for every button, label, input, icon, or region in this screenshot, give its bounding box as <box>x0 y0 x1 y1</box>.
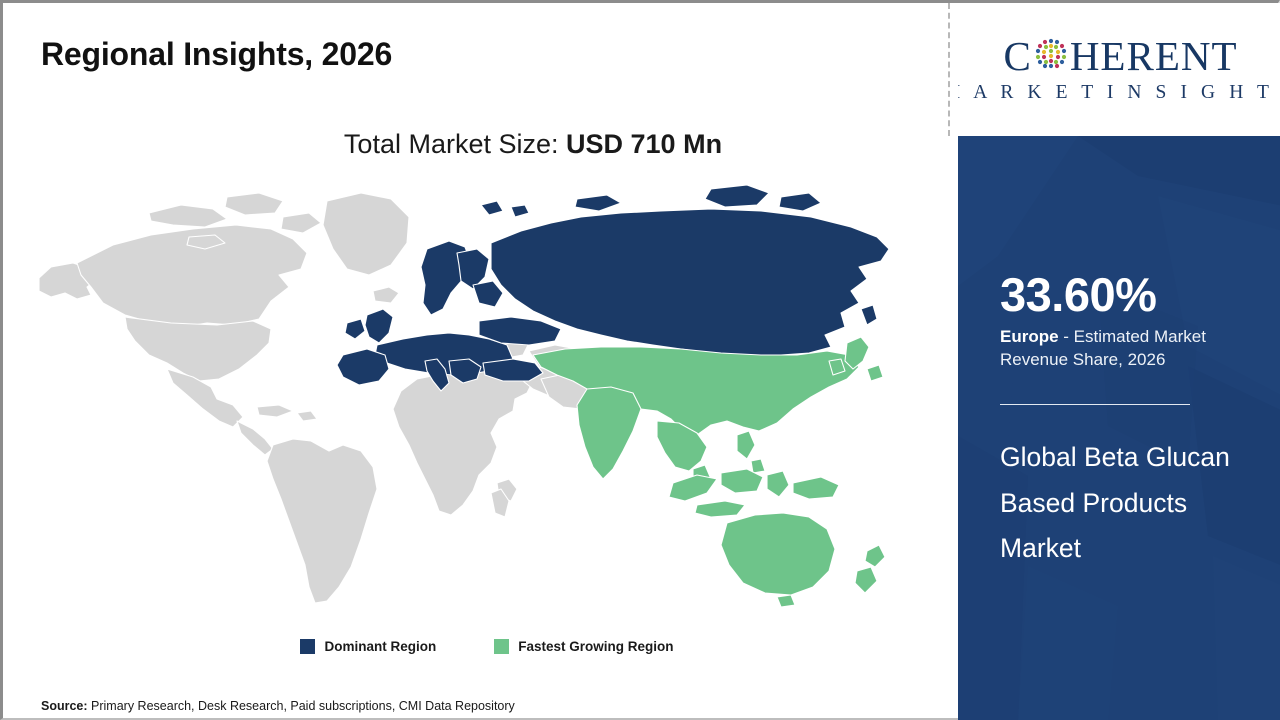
market-size-value: USD 710 Mn <box>566 129 722 159</box>
stat-percentage: 33.60% <box>1000 271 1265 319</box>
legend-item-dominant: Dominant Region <box>300 639 436 654</box>
map-region-other <box>39 193 409 603</box>
world-map <box>21 183 901 613</box>
stats-side-panel: 33.60% Europe - Estimated Market Revenue… <box>958 136 1280 720</box>
logo-wordmark-row: C <box>958 35 1280 78</box>
square-swatch-icon <box>300 639 315 654</box>
brand-logo: C <box>958 3 1280 136</box>
world-map-svg <box>21 183 901 613</box>
legend-label-fastest-growing: Fastest Growing Region <box>518 639 673 654</box>
panel-content: 33.60% Europe - Estimated Market Revenue… <box>1000 136 1265 572</box>
dotted-globe-icon <box>1032 35 1070 78</box>
stat-description: Europe - Estimated Market Revenue Share,… <box>1000 326 1250 371</box>
slide-canvas: Regional Insights, 2026 Total Market Siz… <box>0 0 1280 720</box>
logo-word-herent: HERENT <box>1070 36 1238 77</box>
total-market-size: Total Market Size: USD 710 Mn <box>3 129 951 160</box>
market-title: Global Beta Glucan Based Products Market <box>1000 435 1232 572</box>
vertical-dashed-divider <box>948 3 950 136</box>
map-legend: Dominant Region Fastest Growing Region <box>3 639 951 654</box>
map-region-asia-pacific-fastest <box>533 337 885 607</box>
market-size-label: Total Market Size: <box>344 129 559 159</box>
legend-label-dominant: Dominant Region <box>324 639 436 654</box>
legend-item-fastest-growing: Fastest Growing Region <box>494 639 673 654</box>
panel-divider-rule <box>1000 404 1190 405</box>
page-title: Regional Insights, 2026 <box>41 36 392 73</box>
left-content-pane: Regional Insights, 2026 Total Market Siz… <box>3 3 951 720</box>
logo-letter-c: C <box>1003 36 1031 77</box>
source-text: Primary Research, Desk Research, Paid su… <box>91 699 515 713</box>
stat-region-name: Europe <box>1000 327 1059 346</box>
source-label: Source: <box>41 699 88 713</box>
logo-subtitle: M A R K E T I N S I G H T S <box>958 82 1280 104</box>
square-swatch-icon <box>494 639 509 654</box>
source-note: Source: Primary Research, Desk Research,… <box>3 699 951 713</box>
